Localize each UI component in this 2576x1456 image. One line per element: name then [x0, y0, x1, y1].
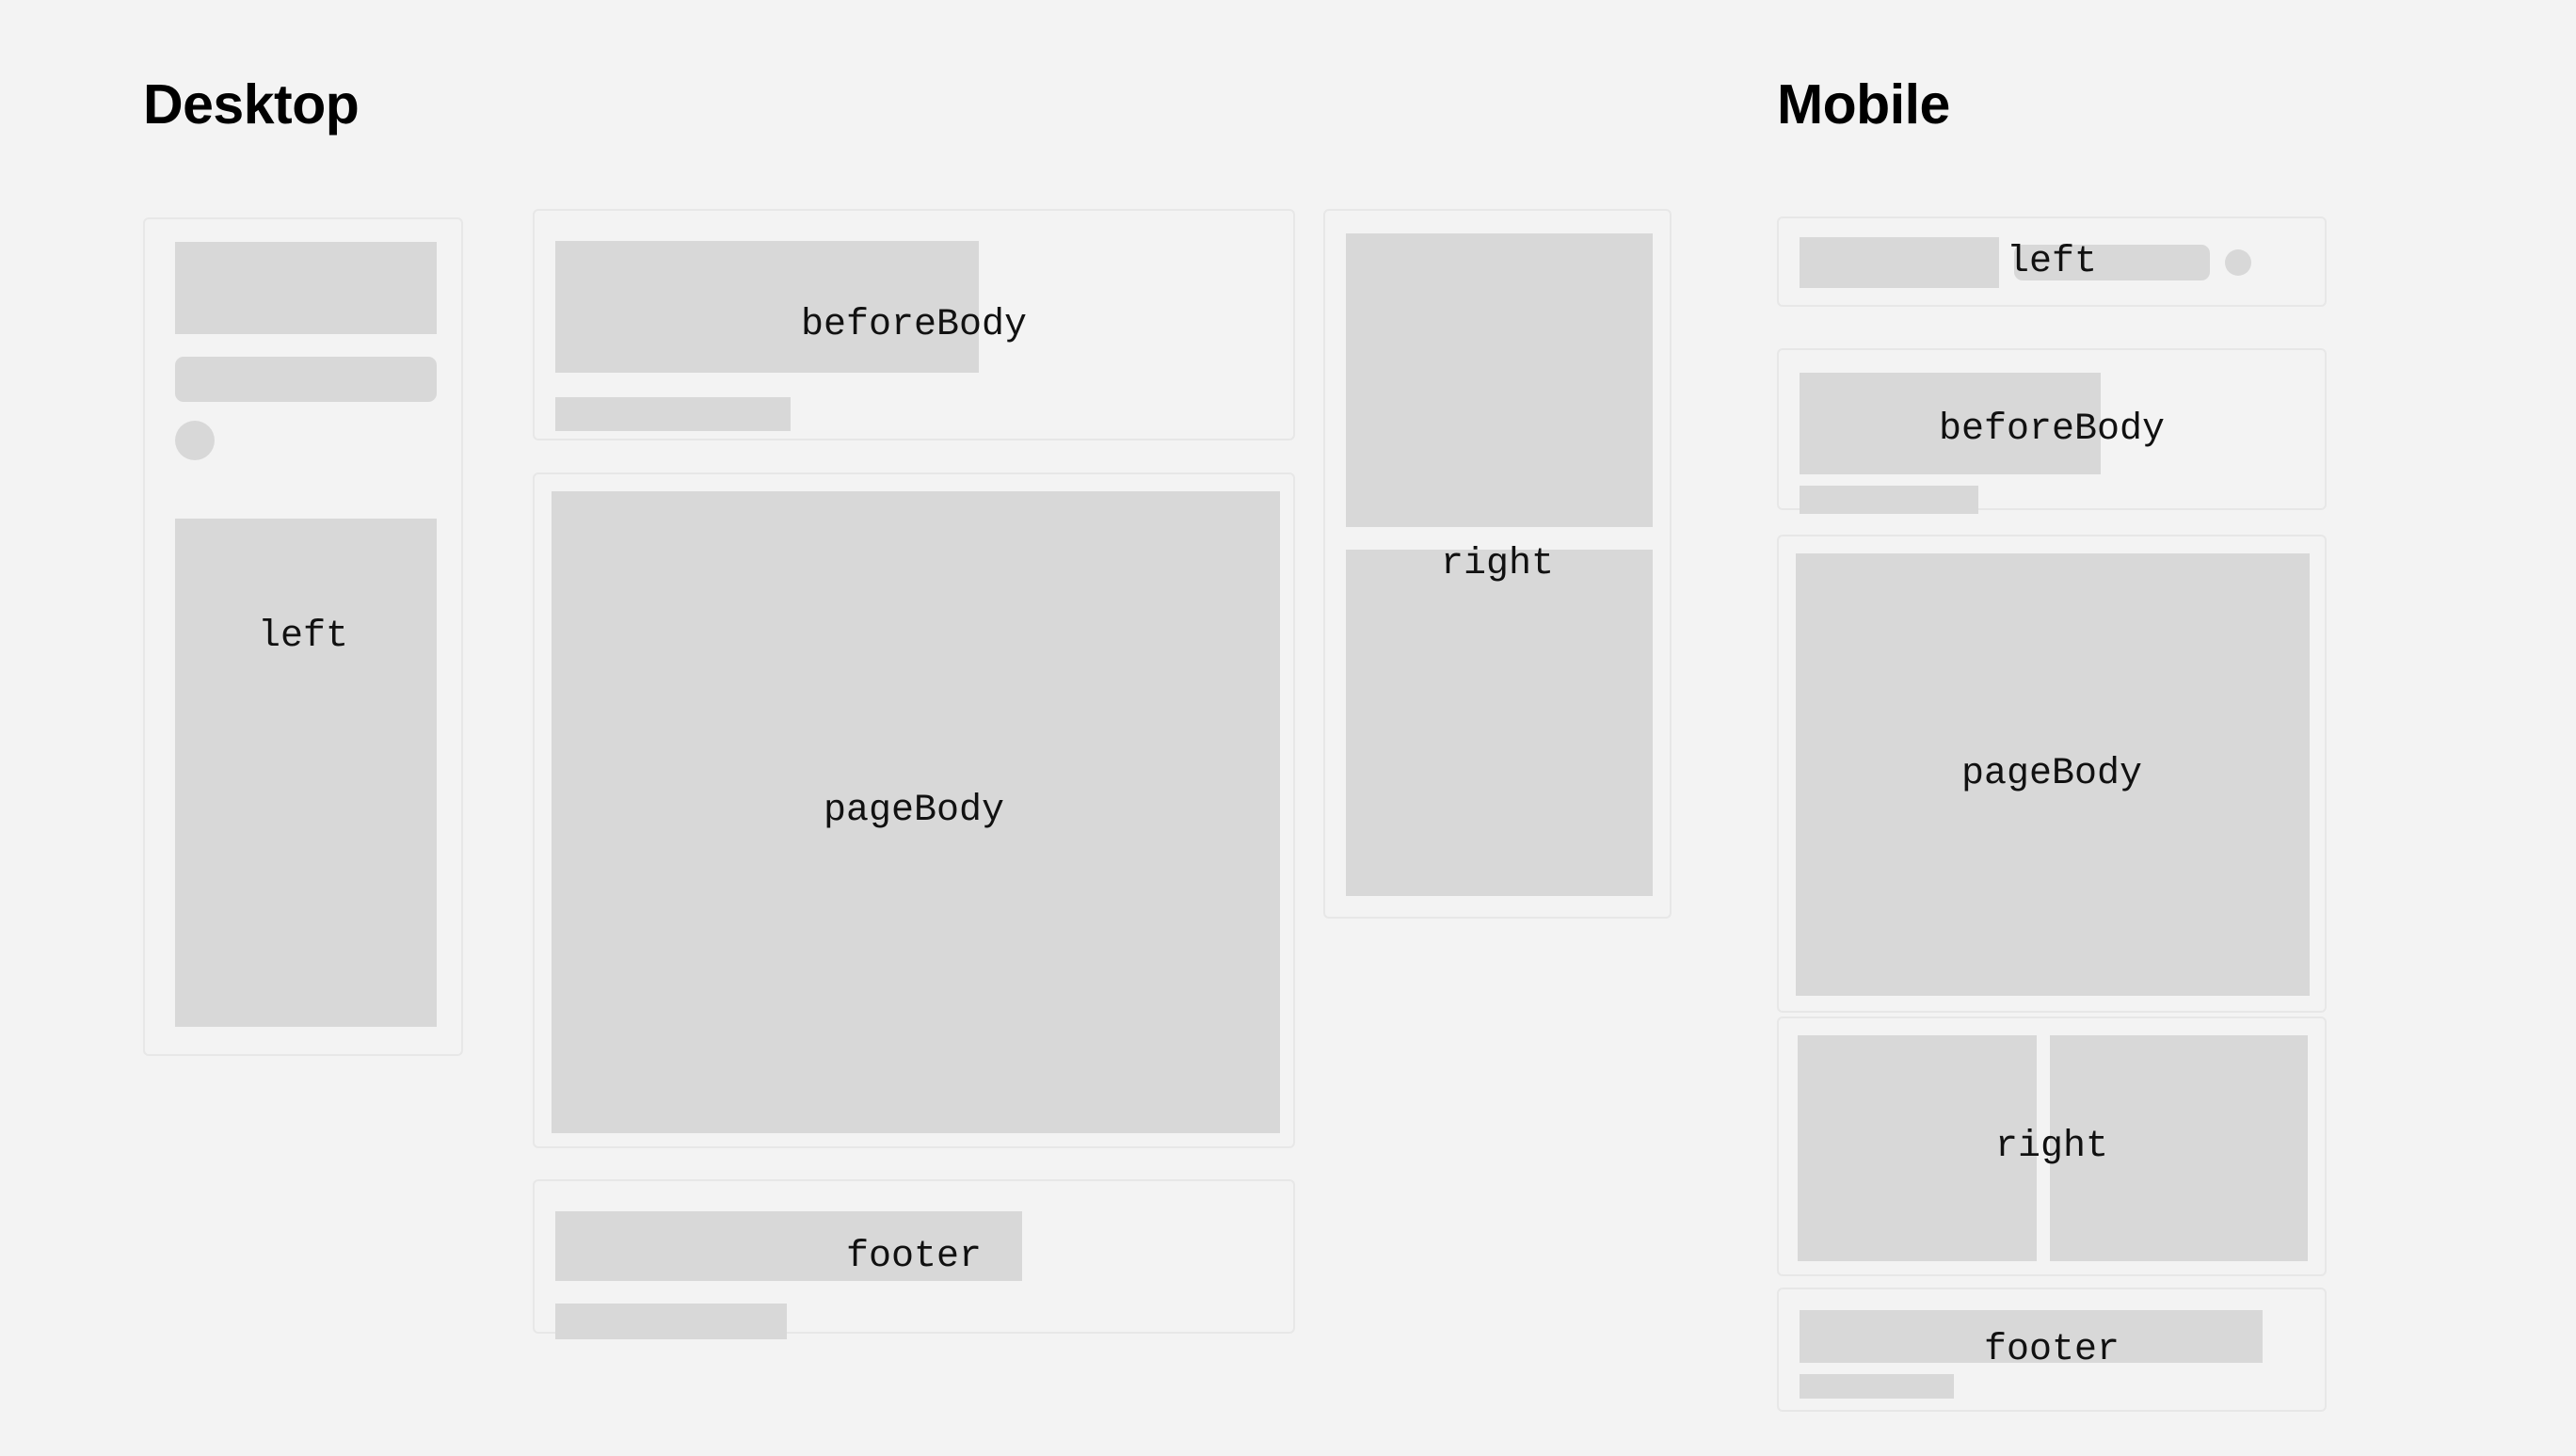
mobile-page-body-panel[interactable]: [1777, 535, 2327, 1013]
mobile-left-avatar-block: [2225, 249, 2251, 276]
mobile-before-body-banner-block: [1800, 373, 2101, 474]
desktop-left-header-block: [175, 242, 437, 334]
mobile-section-title: Mobile: [1777, 77, 1950, 133]
desktop-left-nav-bar-block: [175, 357, 437, 402]
mobile-left-header-block: [1800, 237, 1999, 288]
mobile-footer-main-block: [1800, 1310, 2263, 1363]
mobile-page-body-content-block: [1796, 553, 2310, 996]
desktop-left-nav-list-block: [175, 519, 437, 1027]
mobile-footer-panel[interactable]: [1777, 1288, 2327, 1412]
mobile-footer-sub-block: [1800, 1374, 1954, 1399]
desktop-before-body-panel[interactable]: [533, 209, 1295, 440]
mobile-left-nav-bar-block: [2014, 245, 2210, 280]
desktop-left-avatar-block: [175, 421, 215, 460]
desktop-page-body-content-block: [552, 491, 1280, 1133]
desktop-page-body-panel[interactable]: [533, 472, 1295, 1148]
desktop-footer-panel[interactable]: [533, 1179, 1295, 1334]
desktop-footer-main-block: [555, 1211, 1022, 1281]
desktop-footer-sub-block: [555, 1304, 787, 1339]
desktop-right-widget-top-block: [1346, 233, 1653, 527]
mobile-before-body-panel[interactable]: [1777, 348, 2327, 510]
mobile-right-widget-left-block: [1798, 1035, 2037, 1261]
desktop-left-panel[interactable]: [143, 217, 463, 1056]
desktop-section-title: Desktop: [143, 77, 359, 133]
mobile-right-panel[interactable]: [1777, 1016, 2327, 1276]
desktop-right-panel[interactable]: [1323, 209, 1672, 919]
desktop-right-widget-bottom-block: [1346, 550, 1653, 896]
mobile-right-widget-right-block: [2050, 1035, 2308, 1261]
mobile-left-panel[interactable]: [1777, 216, 2327, 307]
mobile-before-body-caption-block: [1800, 486, 1978, 514]
layout-preview-canvas: Desktop Mobile left beforeBody pageBody …: [0, 0, 2576, 1456]
desktop-before-body-caption-block: [555, 397, 791, 431]
desktop-before-body-banner-block: [555, 241, 979, 373]
